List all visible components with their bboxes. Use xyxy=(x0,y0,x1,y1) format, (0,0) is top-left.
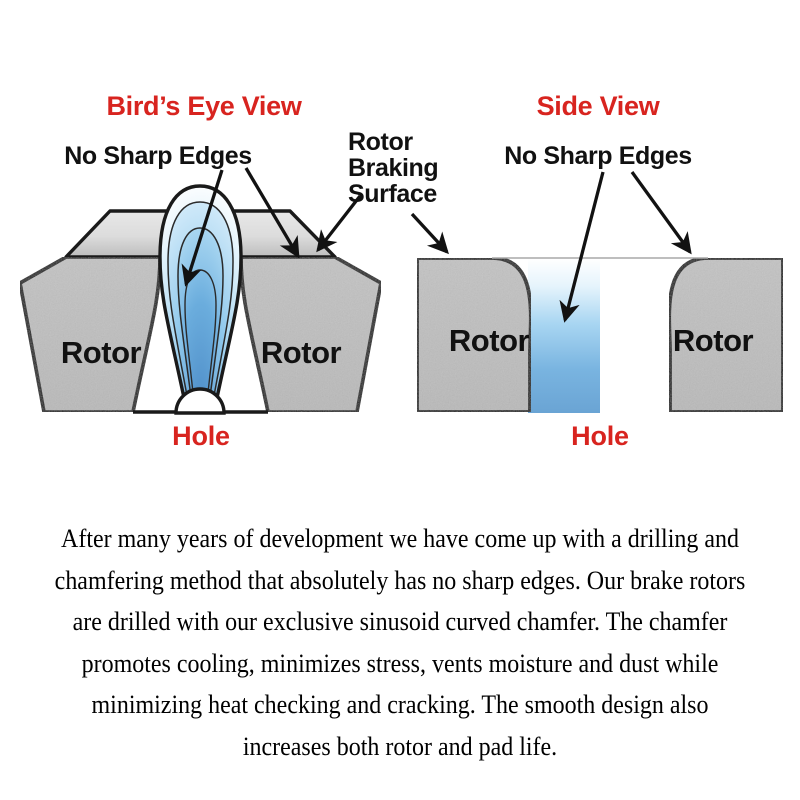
no-sharp-edges-label-left: No Sharp Edges xyxy=(64,142,252,170)
rotor-label-side-view-left: Rotor xyxy=(449,323,530,358)
hole-label-side-view: Hole xyxy=(571,421,629,451)
description-paragraph: After many years of development we have … xyxy=(38,518,762,767)
svg-text:Surface: Surface xyxy=(348,180,437,208)
arrow-braking-surface-to-side-view xyxy=(412,214,447,252)
birds-eye-view-heading: Bird’s Eye View xyxy=(106,91,302,121)
arrow-no-sharp-edges-to-right-chamfer xyxy=(632,172,690,252)
rotor-chamfer-diagram: Bird’s Eye View No Sharp Edges Rotor Bra… xyxy=(0,0,800,500)
hole-label-left-view: Hole xyxy=(172,421,230,451)
side-view-group: Side View No Sharp Edges Rotor Rotor Hol… xyxy=(412,91,783,451)
hole-slot-side-view xyxy=(528,258,600,413)
no-sharp-edges-label-right: No Sharp Edges xyxy=(504,142,692,170)
rotor-label-side-view-right: Rotor xyxy=(673,323,754,358)
rotor-label-left-view-right: Rotor xyxy=(261,335,342,370)
rotor-label-left-view-left: Rotor xyxy=(61,335,142,370)
svg-text:Rotor: Rotor xyxy=(348,128,413,156)
chamfer-funnel xyxy=(160,186,241,412)
rotor-braking-surface-label: Rotor Braking Surface xyxy=(348,128,438,208)
svg-text:Braking: Braking xyxy=(348,154,438,182)
side-view-heading: Side View xyxy=(537,91,661,121)
birds-eye-view-group: Bird’s Eye View No Sharp Edges Rotor Bra… xyxy=(20,91,438,451)
diagram-page: Bird’s Eye View No Sharp Edges Rotor Bra… xyxy=(0,0,800,800)
